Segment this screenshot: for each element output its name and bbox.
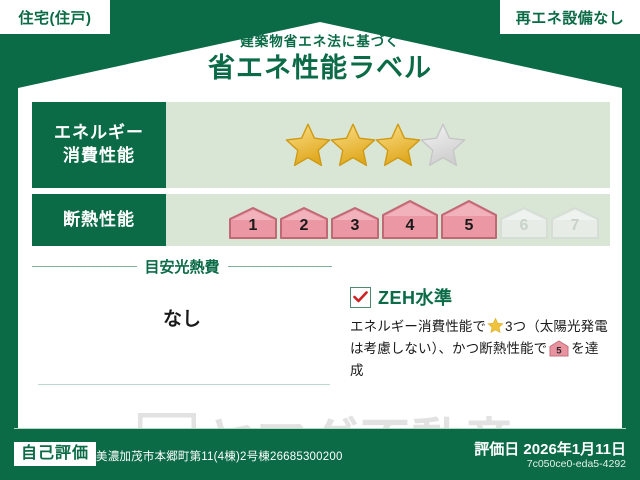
zeh-block: ZEH水準 エネルギー消費性能で3つ（太陽光発電 は考慮しない）、かつ断熱性能で… — [350, 284, 612, 382]
cost-rule-left — [32, 266, 137, 267]
insulation-grade-4: 4 — [381, 200, 439, 240]
row-insulation: 断熱性能 1234567 — [32, 194, 610, 246]
badge-renewable-energy-label: 再エネ設備なし — [516, 7, 625, 28]
insulation-grade-label: 5 — [440, 218, 498, 234]
row-insulation-key: 断熱性能 — [32, 194, 166, 246]
row-insulation-value: 1234567 — [166, 200, 610, 240]
cost-heading: 目安光熱費 — [32, 256, 332, 276]
star-icon-inline — [487, 317, 504, 334]
insulation-grade-label: 6 — [499, 218, 549, 234]
zeh-desc-part2: は考慮しない）、かつ断熱性能で — [350, 341, 547, 356]
evaluation-id: 7c050ce0-eda5-4292 — [527, 458, 626, 470]
insulation-grade-5: 5 — [440, 200, 498, 240]
zeh-desc-stars: 3つ（太陽光発電 — [505, 319, 608, 334]
insulation-grade-1: 1 — [228, 207, 278, 240]
property-address: 美濃加茂市本郷町第11(4棟)2号棟26685300200 — [96, 448, 343, 464]
insulation-grade-2: 2 — [279, 207, 329, 240]
zeh-description: エネルギー消費性能で3つ（太陽光発電 は考慮しない）、かつ断熱性能で5を達成 — [350, 316, 612, 382]
star-rating — [284, 121, 464, 169]
zeh-heading: ZEH水準 — [350, 284, 612, 310]
zeh-title: ZEH水準 — [378, 284, 453, 310]
checkmark-icon — [350, 287, 371, 308]
insulation-grade-7: 7 — [550, 207, 600, 240]
insulation-grade-label: 3 — [330, 218, 380, 234]
star-icon-filled — [284, 121, 332, 169]
cost-heading-label: 目安光熱費 — [137, 256, 228, 277]
cost-rule-right — [228, 266, 333, 267]
svg-text:5: 5 — [557, 345, 563, 356]
main-panel: ヤマダ不動産 エネルギー 消費性能 断熱性能 1234567 — [18, 88, 622, 428]
insulation-grade-label: 7 — [550, 218, 600, 234]
row-energy-key-line2: 消費性能 — [63, 145, 135, 168]
evaluation-date: 評価日 2026年1月11日 — [474, 438, 626, 459]
insulation-grade-label: 2 — [279, 218, 329, 234]
insulation-grade-label: 4 — [381, 218, 439, 234]
badge-building-type-label: 住宅(住戸) — [19, 7, 92, 28]
self-evaluation-badge: 自己評価 — [14, 442, 96, 466]
zeh-desc-part1: エネルギー消費性能で — [350, 319, 486, 334]
row-energy-consumption: エネルギー 消費性能 — [32, 102, 610, 188]
cost-value: なし — [32, 304, 332, 331]
cost-bottom-rule — [38, 384, 330, 385]
footer: 自己評価 美濃加茂市本郷町第11(4棟)2号棟26685300200 評価日 2… — [0, 428, 640, 480]
star-icon-filled — [329, 121, 377, 169]
insulation-grade-6: 6 — [499, 207, 549, 240]
star-icon-filled — [374, 121, 422, 169]
row-energy-key: エネルギー 消費性能 — [32, 102, 166, 188]
row-energy-value — [166, 121, 610, 169]
badge-renewable-energy: 再エネ設備なし — [500, 0, 640, 34]
checkmark-glyph — [353, 291, 368, 303]
insulation-scale: 1234567 — [228, 200, 600, 240]
energy-performance-label: 住宅(住戸) 再エネ設備なし 建築物省エネ法に基づく 省エネ性能ラベル ヤマダ不… — [0, 0, 640, 480]
house-icon-inline: 5 — [549, 340, 569, 357]
row-energy-key-line1: エネルギー — [54, 122, 144, 145]
insulation-grade-3: 3 — [330, 207, 380, 240]
footer-rule — [14, 428, 626, 429]
badge-building-type: 住宅(住戸) — [0, 0, 110, 34]
insulation-grade-label: 1 — [228, 218, 278, 234]
row-insulation-key-label: 断熱性能 — [63, 209, 135, 232]
lower-section: 目安光熱費 なし ZEH水準 エネルギー消費性能で3つ（太陽光発電 は考慮しない… — [32, 256, 610, 414]
star-icon-empty — [419, 121, 467, 169]
